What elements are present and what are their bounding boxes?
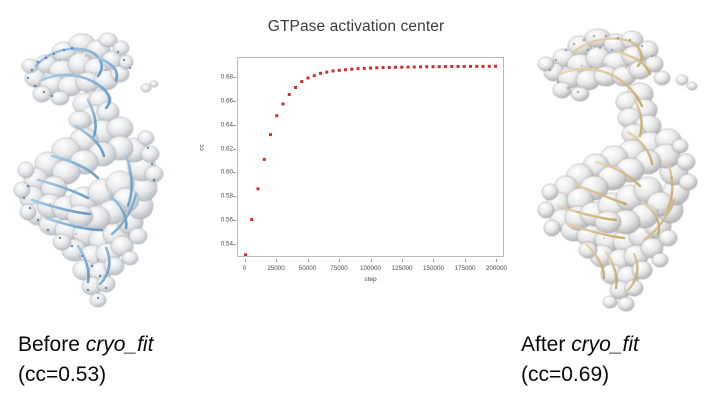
y-axis-ticklabels: 0.540.560.580.600.620.640.660.68 (200, 57, 233, 257)
y-tickmark (233, 101, 236, 102)
data-point (319, 72, 322, 75)
x-tickmark (465, 259, 466, 262)
y-tickmark (233, 125, 236, 126)
data-point (394, 66, 397, 69)
y-tickmark (233, 220, 236, 221)
data-point (288, 93, 291, 96)
data-point (350, 68, 353, 71)
data-point (357, 67, 360, 70)
x-ticklabel: 75000 (330, 265, 348, 272)
after-caption-prefix: After (521, 333, 571, 356)
x-ticklabel: 25000 (267, 265, 285, 272)
slide-canvas: GTPase activation center 0.540.560.580.6… (0, 0, 720, 409)
y-ticklabel: 0.66 (221, 98, 233, 105)
data-point (294, 86, 297, 89)
x-tickmark (371, 259, 372, 262)
after-caption-line1: After cryo_fit (521, 330, 639, 360)
x-tickmark (339, 259, 340, 262)
data-point (438, 65, 441, 68)
x-ticklabel: 175000 (454, 265, 475, 272)
y-tickmark (233, 244, 236, 245)
data-point (432, 65, 435, 68)
data-point (244, 253, 247, 256)
before-caption-prefix: Before (18, 333, 86, 356)
y-ticklabel: 0.56 (221, 217, 233, 224)
data-point (282, 102, 285, 105)
chart-title: GTPase activation center (200, 18, 512, 36)
data-point (375, 66, 378, 69)
x-ticklabel: 100000 (360, 265, 381, 272)
after-structure-image (522, 6, 712, 324)
data-point (400, 66, 403, 69)
x-tickmark (433, 259, 434, 262)
y-tickmark (233, 172, 236, 173)
x-tickmark (245, 259, 246, 262)
data-point (263, 158, 266, 161)
scatter-series (238, 58, 503, 256)
after-density-rendering (522, 6, 712, 324)
data-point (457, 65, 460, 68)
after-caption: After cryo_fit (cc=0.69) (521, 330, 639, 390)
y-ticklabel: 0.60 (221, 169, 233, 176)
data-point (425, 65, 428, 68)
data-point (269, 133, 272, 136)
x-ticklabel: 50000 (299, 265, 317, 272)
x-tickmark (402, 259, 403, 262)
y-axis-label: cc (199, 144, 206, 151)
data-point (325, 71, 328, 74)
y-ticklabel: 0.64 (221, 121, 233, 128)
after-caption-line2: (cc=0.69) (521, 360, 639, 390)
data-point (469, 65, 472, 68)
before-caption-tool: cryo_fit (86, 333, 154, 356)
x-ticklabel: 200000 (486, 265, 507, 272)
y-ticklabel: 0.58 (221, 193, 233, 200)
data-point (250, 218, 253, 221)
y-tickmark (233, 149, 236, 150)
data-point (413, 65, 416, 68)
data-point (338, 69, 341, 72)
data-point (332, 69, 335, 72)
before-caption: Before cryo_fit (cc=0.53) (18, 330, 153, 390)
cc-vs-step-chart: GTPase activation center 0.540.560.580.6… (200, 12, 512, 302)
before-structure-image (2, 8, 184, 320)
data-point (475, 65, 478, 68)
data-point (300, 80, 303, 83)
y-ticklabel: 0.62 (221, 145, 233, 152)
data-point (388, 66, 391, 69)
data-point (369, 67, 372, 70)
y-ticklabel: 0.68 (221, 74, 233, 81)
data-point (488, 65, 491, 68)
data-point (463, 65, 466, 68)
x-axis-label: step (237, 276, 504, 283)
y-tickmark (233, 77, 236, 78)
data-point (419, 65, 422, 68)
data-point (444, 65, 447, 68)
x-tickmark (496, 259, 497, 262)
plot-area (237, 57, 504, 257)
x-tickmark (276, 259, 277, 262)
y-ticklabel: 0.54 (221, 240, 233, 247)
data-point (494, 65, 497, 68)
x-tickmark (308, 259, 309, 262)
data-point (313, 74, 316, 77)
x-ticklabel: 0 (243, 265, 247, 272)
before-caption-line2: (cc=0.53) (18, 360, 153, 390)
data-point (257, 187, 260, 190)
data-point (363, 67, 366, 70)
before-density-rendering (2, 8, 184, 320)
x-ticklabel: 125000 (391, 265, 412, 272)
data-point (482, 65, 485, 68)
x-ticklabel: 150000 (423, 265, 444, 272)
data-point (450, 65, 453, 68)
after-caption-tool: cryo_fit (571, 333, 639, 356)
data-point (275, 114, 278, 117)
data-point (407, 66, 410, 69)
y-tickmark (233, 196, 236, 197)
data-point (382, 66, 385, 69)
x-axis-ticklabels: 0250005000075000100000125000150000175000… (237, 259, 504, 275)
data-point (307, 77, 310, 80)
before-caption-line1: Before cryo_fit (18, 330, 153, 360)
data-point (344, 68, 347, 71)
